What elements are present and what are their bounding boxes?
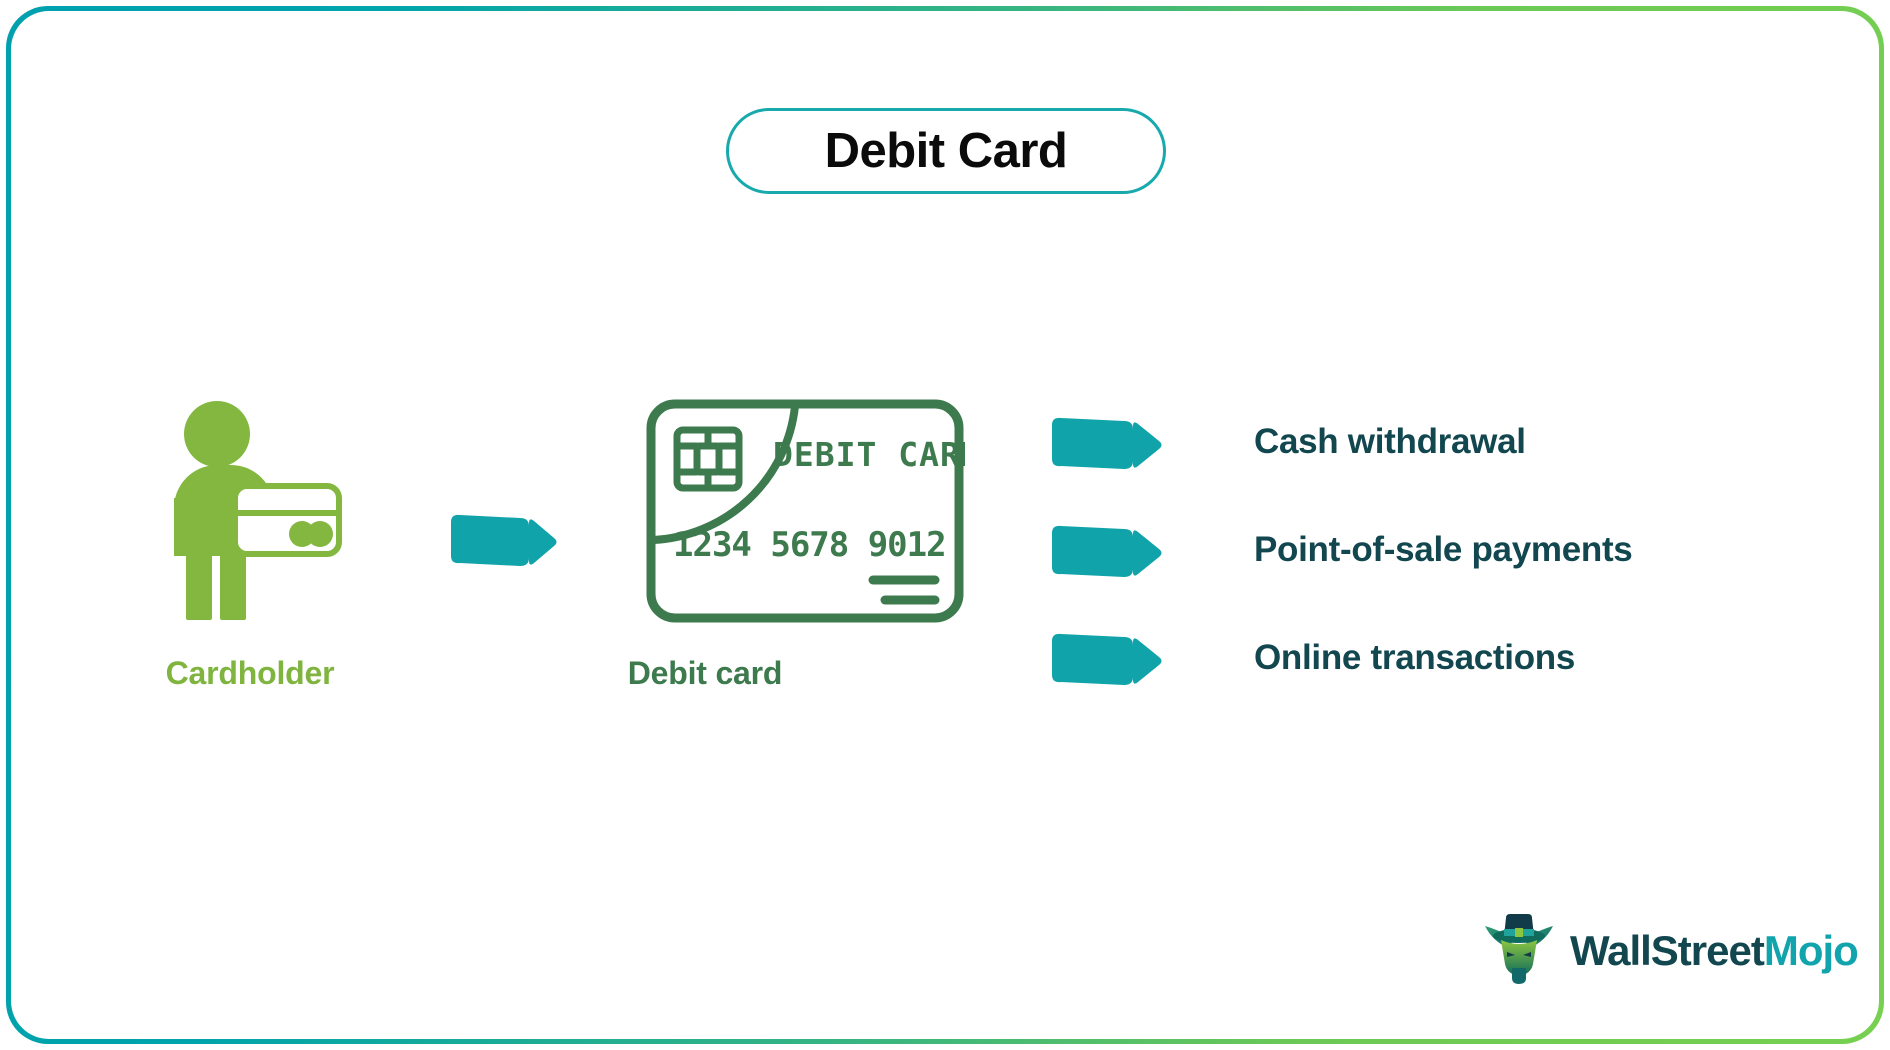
use-case-row: Cash withdrawal bbox=[1048, 388, 1808, 496]
card-brand-text: DEBIT CARD bbox=[773, 435, 965, 474]
page-title: Debit Card bbox=[825, 123, 1068, 179]
use-case-row: Online transactions bbox=[1048, 604, 1808, 712]
infographic-canvas: Debit Card Cardholder bbox=[0, 0, 1890, 1050]
content-layer: Debit Card Cardholder bbox=[0, 0, 1890, 1050]
right-arrow-icon bbox=[1048, 519, 1166, 581]
debit-card-icon: DEBIT CARD 1234 5678 9012 345 bbox=[645, 398, 965, 624]
brand-name-accent: Mojo bbox=[1764, 927, 1858, 974]
use-case-label: Point-of-sale payments bbox=[1254, 530, 1632, 570]
card-number-text: 1234 5678 9012 345 bbox=[673, 525, 965, 565]
cardholder-label: Cardholder bbox=[100, 655, 400, 692]
use-case-row: Point-of-sale payments bbox=[1048, 496, 1808, 604]
bull-with-tophat-logo-icon bbox=[1482, 912, 1556, 990]
right-arrow-icon bbox=[1048, 627, 1166, 689]
right-arrow-icon bbox=[1048, 411, 1166, 473]
brand-wordmark: WallStreetMojo bbox=[1570, 927, 1858, 975]
right-arrow-icon bbox=[445, 508, 560, 570]
brand-name-primary: WallStreet bbox=[1570, 927, 1764, 974]
use-case-label: Online transactions bbox=[1254, 638, 1575, 678]
person-holding-card-icon bbox=[150, 398, 350, 620]
use-case-label: Cash withdrawal bbox=[1254, 422, 1526, 462]
brand-logo[interactable]: WallStreetMojo bbox=[1482, 912, 1858, 990]
page-title-pill: Debit Card bbox=[726, 108, 1166, 194]
debit-card-label: Debit card bbox=[555, 655, 855, 692]
use-case-list: Cash withdrawal Point-of-sale payments O… bbox=[1048, 388, 1808, 712]
